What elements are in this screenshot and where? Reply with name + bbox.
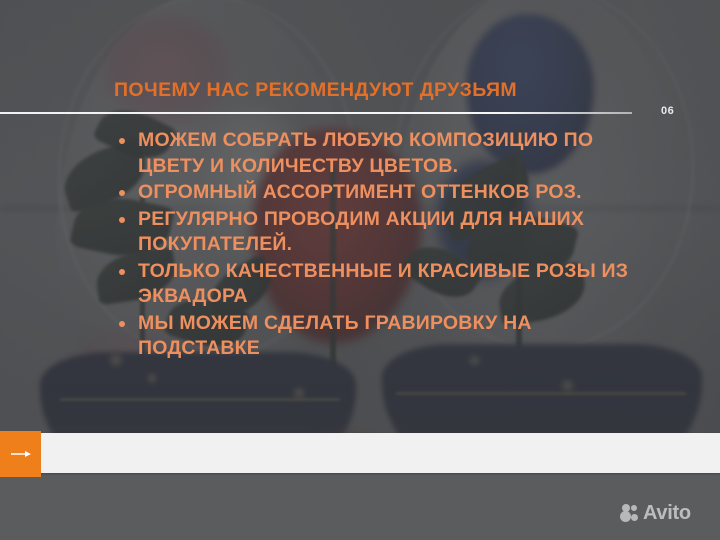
benefits-list: МОЖЕМ СОБРАТЬ ЛЮБУЮ КОМПОЗИЦИЮ ПО ЦВЕТУ …	[114, 128, 634, 363]
bullet-dot-icon	[119, 138, 125, 144]
list-item-label: ОГРОМНЫЙ АССОРТИМЕНТ ОТТЕНКОВ РОЗ.	[138, 181, 582, 203]
page-title: ПОЧЕМУ НАС РЕКОМЕНДУЮТ ДРУЗЬЯМ	[114, 79, 517, 102]
arrow-right-icon	[10, 448, 32, 460]
avito-dots-icon	[620, 504, 639, 523]
list-item-label: МОЖЕМ СОБРАТЬ ЛЮБУЮ КОМПОЗИЦИЮ ПО ЦВЕТУ …	[138, 129, 593, 177]
page-number: 06	[661, 105, 674, 117]
list-item: РЕГУЛЯРНО ПРОВОДИМ АКЦИИ ДЛЯ НАШИХ ПОКУП…	[114, 207, 634, 258]
next-slide-button[interactable]	[0, 431, 41, 477]
bullet-dot-icon	[119, 217, 125, 223]
list-item: МЫ МОЖЕМ СДЕЛАТЬ ГРАВИРОВКУ НА ПОДСТАВКЕ	[114, 311, 634, 362]
list-item-label: РЕГУЛЯРНО ПРОВОДИМ АКЦИИ ДЛЯ НАШИХ ПОКУП…	[138, 208, 584, 256]
presentation-slide: ПОЧЕМУ НАС РЕКОМЕНДУЮТ ДРУЗЬЯМ 06 МОЖЕМ …	[0, 0, 720, 540]
list-item: МОЖЕМ СОБРАТЬ ЛЮБУЮ КОМПОЗИЦИЮ ПО ЦВЕТУ …	[114, 128, 634, 179]
title-divider	[0, 112, 632, 114]
avito-watermark: Avito	[620, 503, 691, 523]
list-item-label: МЫ МОЖЕМ СДЕЛАТЬ ГРАВИРОВКУ НА ПОДСТАВКЕ	[138, 312, 532, 360]
list-item: ОГРОМНЫЙ АССОРТИМЕНТ ОТТЕНКОВ РОЗ.	[114, 180, 634, 206]
slide-content: ПОЧЕМУ НАС РЕКОМЕНДУЮТ ДРУЗЬЯМ 06 МОЖЕМ …	[0, 0, 720, 540]
bullet-dot-icon	[119, 190, 125, 196]
bullet-dot-icon	[119, 321, 125, 327]
list-item-label: ТОЛЬКО КАЧЕСТВЕННЫЕ И КРАСИВЫЕ РОЗЫ ИЗ Э…	[138, 260, 628, 308]
bullet-dot-icon	[119, 269, 125, 275]
avito-wordmark: Avito	[643, 503, 691, 523]
list-item: ТОЛЬКО КАЧЕСТВЕННЫЕ И КРАСИВЫЕ РОЗЫ ИЗ Э…	[114, 259, 634, 310]
bottom-bar	[0, 433, 720, 473]
